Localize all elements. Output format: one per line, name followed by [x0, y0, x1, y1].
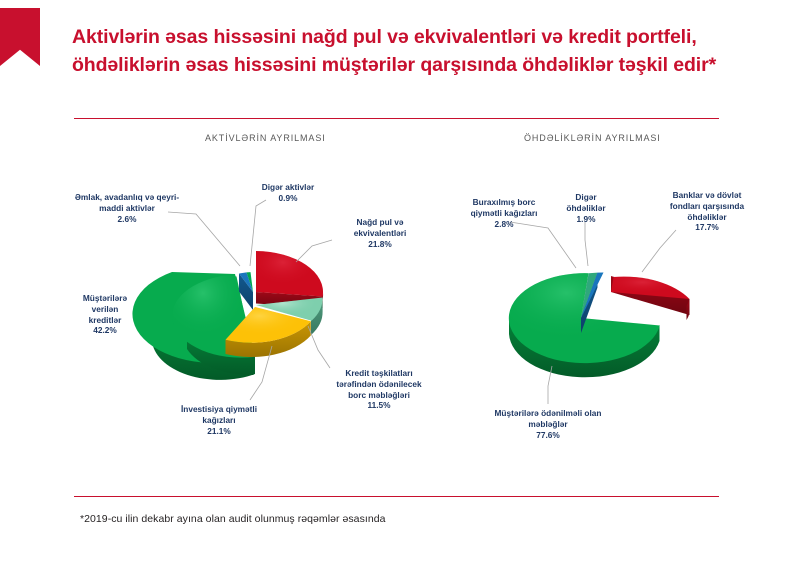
- callout-value: 21.1%: [155, 426, 283, 437]
- pie-chart-assets: [0, 0, 800, 566]
- callout-line-1: Buraxılmış borc: [442, 197, 566, 208]
- callout-line-1: Digər aktivlər: [240, 182, 336, 193]
- callout-line-2: verilən: [64, 304, 146, 315]
- leader-line-other-liab: [585, 222, 588, 266]
- callout-line-1: Əmlak, avadanlıq və qeyri-: [62, 192, 192, 203]
- callout-assets-loans: Müştərilərə verilən kreditlər 42.2%: [64, 293, 146, 336]
- callout-line-1: Nağd pul və: [330, 217, 430, 228]
- leader-line-banks: [642, 230, 676, 272]
- footer-divider: [74, 496, 719, 497]
- callout-line-3: borc məbləğləri: [313, 390, 445, 401]
- callout-line-2: qiymətli kağızları: [442, 208, 566, 219]
- callout-value: 42.2%: [64, 325, 146, 336]
- callout-value: 2.8%: [442, 219, 566, 230]
- callout-line-2: tərəfindən ödənilecek: [313, 379, 445, 390]
- callout-line-1: Banklar və dövlət: [639, 190, 775, 201]
- callout-line-2: kağızları: [155, 415, 283, 426]
- callout-liabilities-debt-sec: Buraxılmış borc qiymətli kağızları 2.8%: [442, 197, 566, 229]
- callout-line-1: İnvestisiya qiymətli: [155, 404, 283, 415]
- slide-canvas: Aktivlərin əsas hissəsini nağd pul və ek…: [0, 0, 800, 566]
- leader-line-cash: [296, 240, 332, 262]
- callout-line-1: Digər: [551, 192, 621, 203]
- callout-line-2: məbləğlər: [462, 419, 634, 430]
- callout-line-2: öhdəliklər: [551, 203, 621, 214]
- callout-liabilities-customers: Müştərilərə ödənilməli olan məbləğlər 77…: [462, 408, 634, 440]
- callout-line-1: Müştərilərə: [64, 293, 146, 304]
- callout-value: 0.9%: [240, 193, 336, 204]
- callout-assets-cash: Nağd pul və ekvivalentləri 21.8%: [330, 217, 430, 249]
- slice-gloss-cash: [256, 251, 323, 297]
- callout-line-2: maddi aktivlər: [62, 203, 192, 214]
- callout-line-2: fondları qarşısında: [639, 201, 775, 212]
- callout-line-3: öhdəliklər: [639, 212, 775, 223]
- callout-value: 2.6%: [62, 214, 192, 225]
- callout-assets-investment: İnvestisiya qiymətli kağızları 21.1%: [155, 404, 283, 436]
- callout-assets-property: Əmlak, avadanlıq və qeyri- maddi aktivlə…: [62, 192, 192, 224]
- footnote-text: *2019-cu ilin dekabr ayına olan audit ol…: [80, 513, 386, 525]
- liabilities-pie-body: [509, 222, 690, 404]
- callout-value: 77.6%: [462, 430, 634, 441]
- callout-line-1: Müştərilərə ödənilməli olan: [462, 408, 634, 419]
- callout-liabilities-other: Digər öhdəliklər 1.9%: [551, 192, 621, 224]
- callout-line-1: Kredit təşkilatları: [313, 368, 445, 379]
- assets-pie-body: [132, 200, 332, 400]
- callout-assets-other: Digər aktivlər 0.9%: [240, 182, 336, 204]
- callout-assets-credit-org: Kredit təşkilatları tərəfindən ödənilece…: [313, 368, 445, 411]
- callout-value: 21.8%: [330, 239, 430, 250]
- callout-line-3: kreditlər: [64, 315, 146, 326]
- callout-value: 17.7%: [639, 222, 775, 233]
- callout-value: 1.9%: [551, 214, 621, 225]
- callout-value: 11.5%: [313, 400, 445, 411]
- callout-line-2: ekvivalentləri: [330, 228, 430, 239]
- callout-liabilities-banks: Banklar və dövlət fondları qarşısında öh…: [639, 190, 775, 233]
